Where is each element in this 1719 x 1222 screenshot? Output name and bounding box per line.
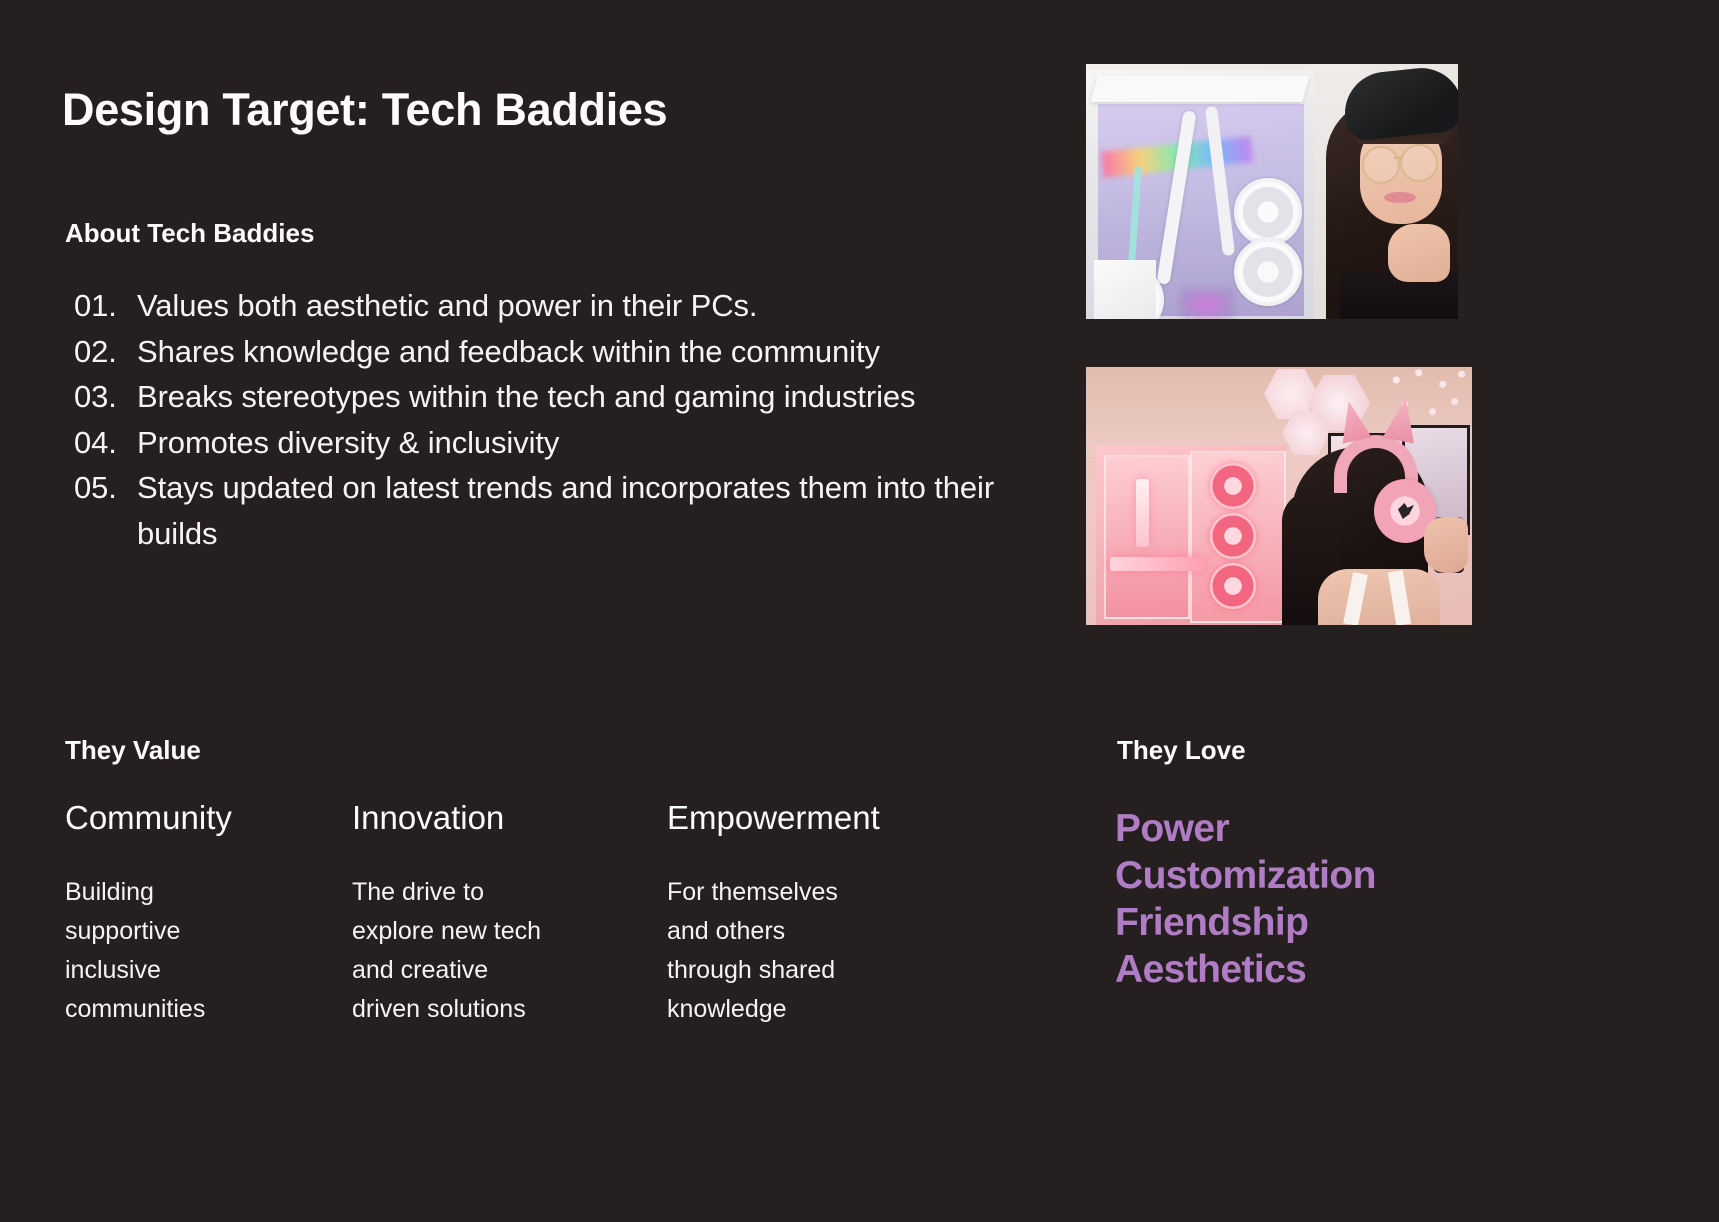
left-content-column: Design Target: Tech Baddies About Tech B… (62, 0, 1072, 1222)
lips (1384, 192, 1416, 203)
photo-pink-gaming-setup (1086, 367, 1472, 625)
slide-canvas: Design Target: Tech Baddies About Tech B… (0, 0, 1719, 1222)
pc-case-top-panel (1090, 76, 1309, 102)
list-item: 05. Stays updated on latest trends and i… (74, 465, 1034, 556)
gpu-light-bar (1110, 557, 1206, 571)
case-fan (1210, 513, 1256, 559)
they-love-heading: They Love (1117, 735, 1246, 766)
case-fan (1210, 463, 1256, 509)
eyeglass-bridge (1394, 156, 1403, 159)
psu-shroud (1094, 260, 1156, 319)
case-fan (1234, 238, 1302, 306)
list-item-number: 01. (74, 283, 137, 329)
list-item-text: Stays updated on latest trends and incor… (137, 465, 1034, 556)
eyeglass-lens-right (1400, 144, 1438, 182)
page-title: Design Target: Tech Baddies (62, 85, 667, 135)
raised-arm (1424, 517, 1468, 573)
list-item-text: Promotes diversity & inclusivity (137, 420, 1034, 466)
value-column-title: Community (65, 800, 352, 836)
about-section-heading: About Tech Baddies (65, 218, 314, 249)
list-item: 02. Shares knowledge and feedback within… (74, 329, 1034, 375)
list-item: 03. Breaks stereotypes within the tech a… (74, 374, 1034, 420)
value-column-title: Empowerment (667, 800, 969, 836)
case-fan (1234, 178, 1302, 246)
list-item-text: Shares knowledge and feedback within the… (137, 329, 1034, 375)
they-value-columns: Community Building supportive inclusive … (65, 800, 1025, 1029)
value-column-innovation: Innovation The drive to explore new tech… (352, 800, 667, 1029)
pink-glow (1180, 288, 1234, 319)
pc-case (1086, 70, 1314, 319)
list-item-number: 04. (74, 420, 137, 466)
person-figure (1322, 64, 1458, 319)
they-love-word-list: Power Customization Friendship Aesthetic… (1115, 805, 1535, 993)
value-column-empowerment: Empowerment For themselves and others th… (667, 800, 969, 1029)
list-item-text: Breaks stereotypes within the tech and g… (137, 374, 1034, 420)
love-word: Aesthetics (1115, 946, 1535, 993)
about-list: 01. Values both aesthetic and power in t… (74, 283, 1034, 556)
black-beret-hat (1341, 64, 1458, 142)
love-word: Friendship (1115, 899, 1535, 946)
list-item: 01. Values both aesthetic and power in t… (74, 283, 1034, 329)
list-item-number: 03. (74, 374, 137, 420)
list-item-number: 02. (74, 329, 137, 375)
list-item: 04. Promotes diversity & inclusivity (74, 420, 1034, 466)
back-and-shoulders (1318, 569, 1440, 625)
value-column-community: Community Building supportive inclusive … (65, 800, 352, 1029)
person-figure (1282, 395, 1472, 625)
value-column-body: For themselves and others through shared… (667, 873, 969, 1029)
photo-white-pc-build (1086, 64, 1458, 319)
list-item-text: Values both aesthetic and power in their… (137, 283, 1034, 329)
love-word: Customization (1115, 852, 1535, 899)
value-column-title: Innovation (352, 800, 667, 836)
rgb-light-bar (1136, 479, 1149, 547)
they-value-heading: They Value (65, 735, 201, 766)
love-word: Power (1115, 805, 1535, 852)
hand-on-chin (1388, 224, 1450, 282)
value-column-body: The drive to explore new tech and creati… (352, 873, 667, 1029)
value-column-body: Building supportive inclusive communitie… (65, 873, 352, 1029)
cat-ear-left (1334, 398, 1372, 443)
case-fan (1210, 563, 1256, 609)
cat-ear-right (1382, 395, 1421, 444)
eyeglass-lens-left (1362, 146, 1400, 184)
list-item-number: 05. (74, 465, 137, 511)
